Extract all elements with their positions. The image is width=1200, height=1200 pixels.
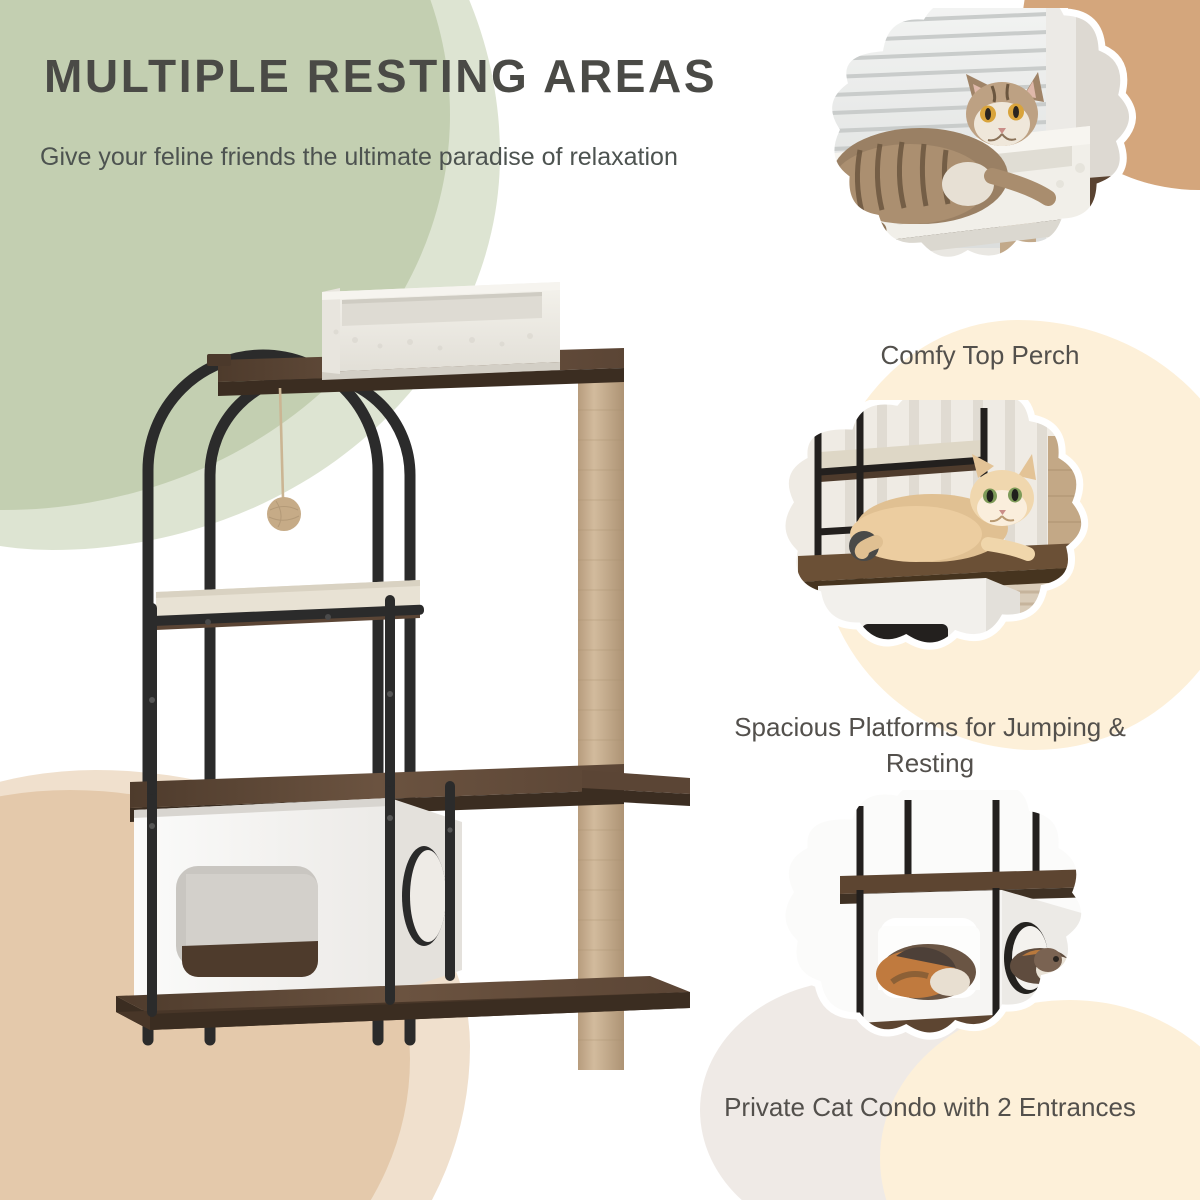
dangling-sisal-ball	[267, 388, 301, 531]
sisal-scratching-post	[578, 370, 624, 1070]
feature-card-private-cat-condo: Private Cat Condo with 2 Entrances	[700, 790, 1160, 1190]
infographic-page: MULTIPLE RESTING AREAS Give your feline …	[0, 0, 1200, 1200]
product-illustration	[90, 270, 730, 1110]
caption-comfy-top-perch: Comfy Top Perch	[760, 338, 1200, 374]
cat-condo	[134, 798, 462, 1006]
photo-spacious-platforms	[700, 400, 1160, 700]
page-title: MULTIPLE RESTING AREAS	[44, 52, 744, 100]
caption-private-cat-condo: Private Cat Condo with 2 Entrances	[700, 1090, 1160, 1126]
page-subtitle: Give your feline friends the ultimate pa…	[40, 140, 710, 176]
photo-comfy-top-perch	[760, 8, 1200, 338]
condo-round-entrance	[402, 846, 446, 946]
condo-square-entrance-photo	[876, 918, 980, 1000]
caption-spacious-platforms: Spacious Platforms for Jumping & Resting	[700, 710, 1160, 782]
photo-private-cat-condo	[700, 790, 1160, 1090]
condo-square-entrance	[176, 866, 318, 977]
feature-card-comfy-top-perch: Comfy Top Perch	[760, 8, 1200, 408]
top-perch-bed	[322, 282, 560, 380]
feature-card-spacious-platforms: Spacious Platforms for Jumping & Resting	[700, 400, 1160, 790]
